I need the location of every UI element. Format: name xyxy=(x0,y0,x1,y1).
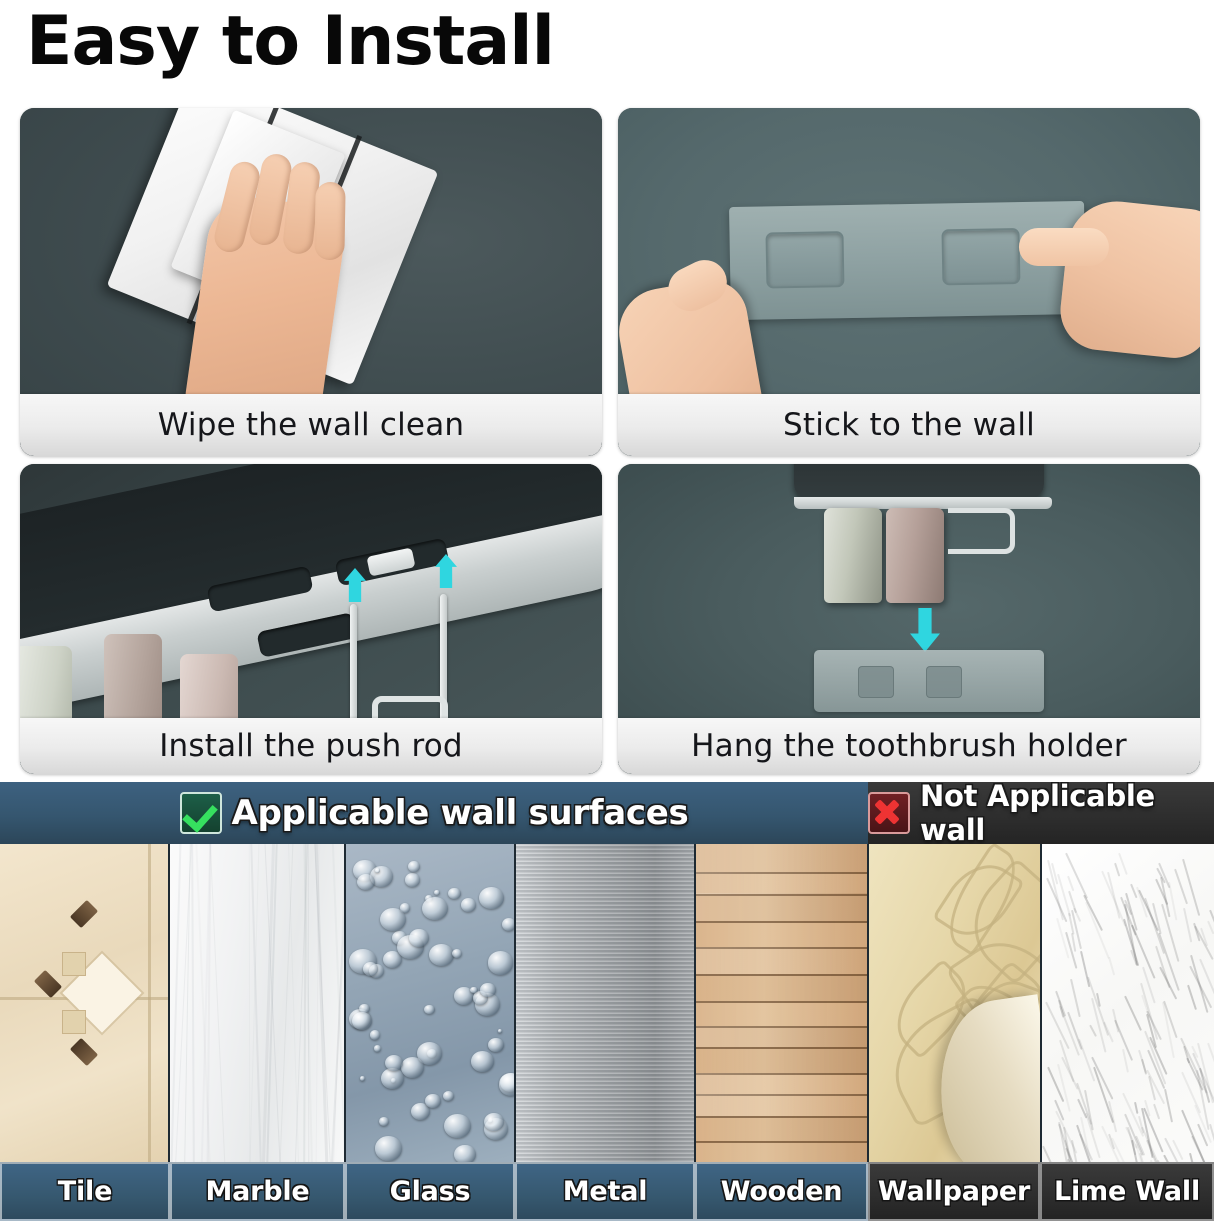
comparison-header-row: Applicable wall surfaces Not Applicable … xyxy=(0,782,1214,844)
swatch-lime-wall xyxy=(1042,844,1214,1162)
step-caption-bar: Wipe the wall clean xyxy=(20,394,602,456)
step-caption-text: Wipe the wall clean xyxy=(158,407,465,443)
step-caption-bar: Install the push rod xyxy=(20,718,602,774)
red-cross-icon xyxy=(868,792,910,834)
material-label-wallpaper: Wallpaper xyxy=(868,1162,1040,1221)
swatch-glass xyxy=(346,844,516,1162)
step-caption-text: Install the push rod xyxy=(159,728,463,764)
applicable-header: Applicable wall surfaces xyxy=(0,782,868,844)
step-card-push-rod: Install the push rod xyxy=(20,464,602,774)
applicable-title: Applicable wall surfaces xyxy=(232,793,689,833)
step-card-stick: Stick to the wall xyxy=(618,108,1200,456)
swatch-wallpaper xyxy=(869,844,1041,1162)
step-caption-text: Hang the toothbrush holder xyxy=(691,728,1127,764)
material-label-strip: Tile Marble Glass Metal Wooden Wallpaper… xyxy=(0,1162,1214,1221)
step-card-hang-holder: Hang the toothbrush holder xyxy=(618,464,1200,774)
swatch-marble xyxy=(170,844,345,1162)
material-swatch-strip xyxy=(0,844,1214,1162)
swatch-metal xyxy=(516,844,696,1162)
swatch-tile xyxy=(0,844,170,1162)
infographic-page: Easy to Install Wipe the wall clean xyxy=(0,0,1214,1221)
material-label-lime-wall: Lime Wall xyxy=(1040,1162,1214,1221)
not-applicable-title: Not Applicable wall xyxy=(920,779,1214,847)
page-title: Easy to Install xyxy=(26,8,554,76)
material-label-tile: Tile xyxy=(0,1162,170,1221)
wall-surface-comparison: Applicable wall surfaces Not Applicable … xyxy=(0,782,1214,1221)
swatch-wooden xyxy=(696,844,869,1162)
step-caption-text: Stick to the wall xyxy=(783,407,1035,443)
install-steps-grid: Wipe the wall clean Stick to the wall xyxy=(20,108,1200,773)
step-caption-bar: Hang the toothbrush holder xyxy=(618,718,1200,774)
step-card-wipe: Wipe the wall clean xyxy=(20,108,602,456)
material-label-metal: Metal xyxy=(515,1162,695,1221)
material-label-wooden: Wooden xyxy=(695,1162,868,1221)
green-check-icon xyxy=(180,792,222,834)
material-label-glass: Glass xyxy=(345,1162,515,1221)
step-caption-bar: Stick to the wall xyxy=(618,394,1200,456)
material-label-marble: Marble xyxy=(170,1162,345,1221)
not-applicable-header: Not Applicable wall xyxy=(868,782,1214,844)
